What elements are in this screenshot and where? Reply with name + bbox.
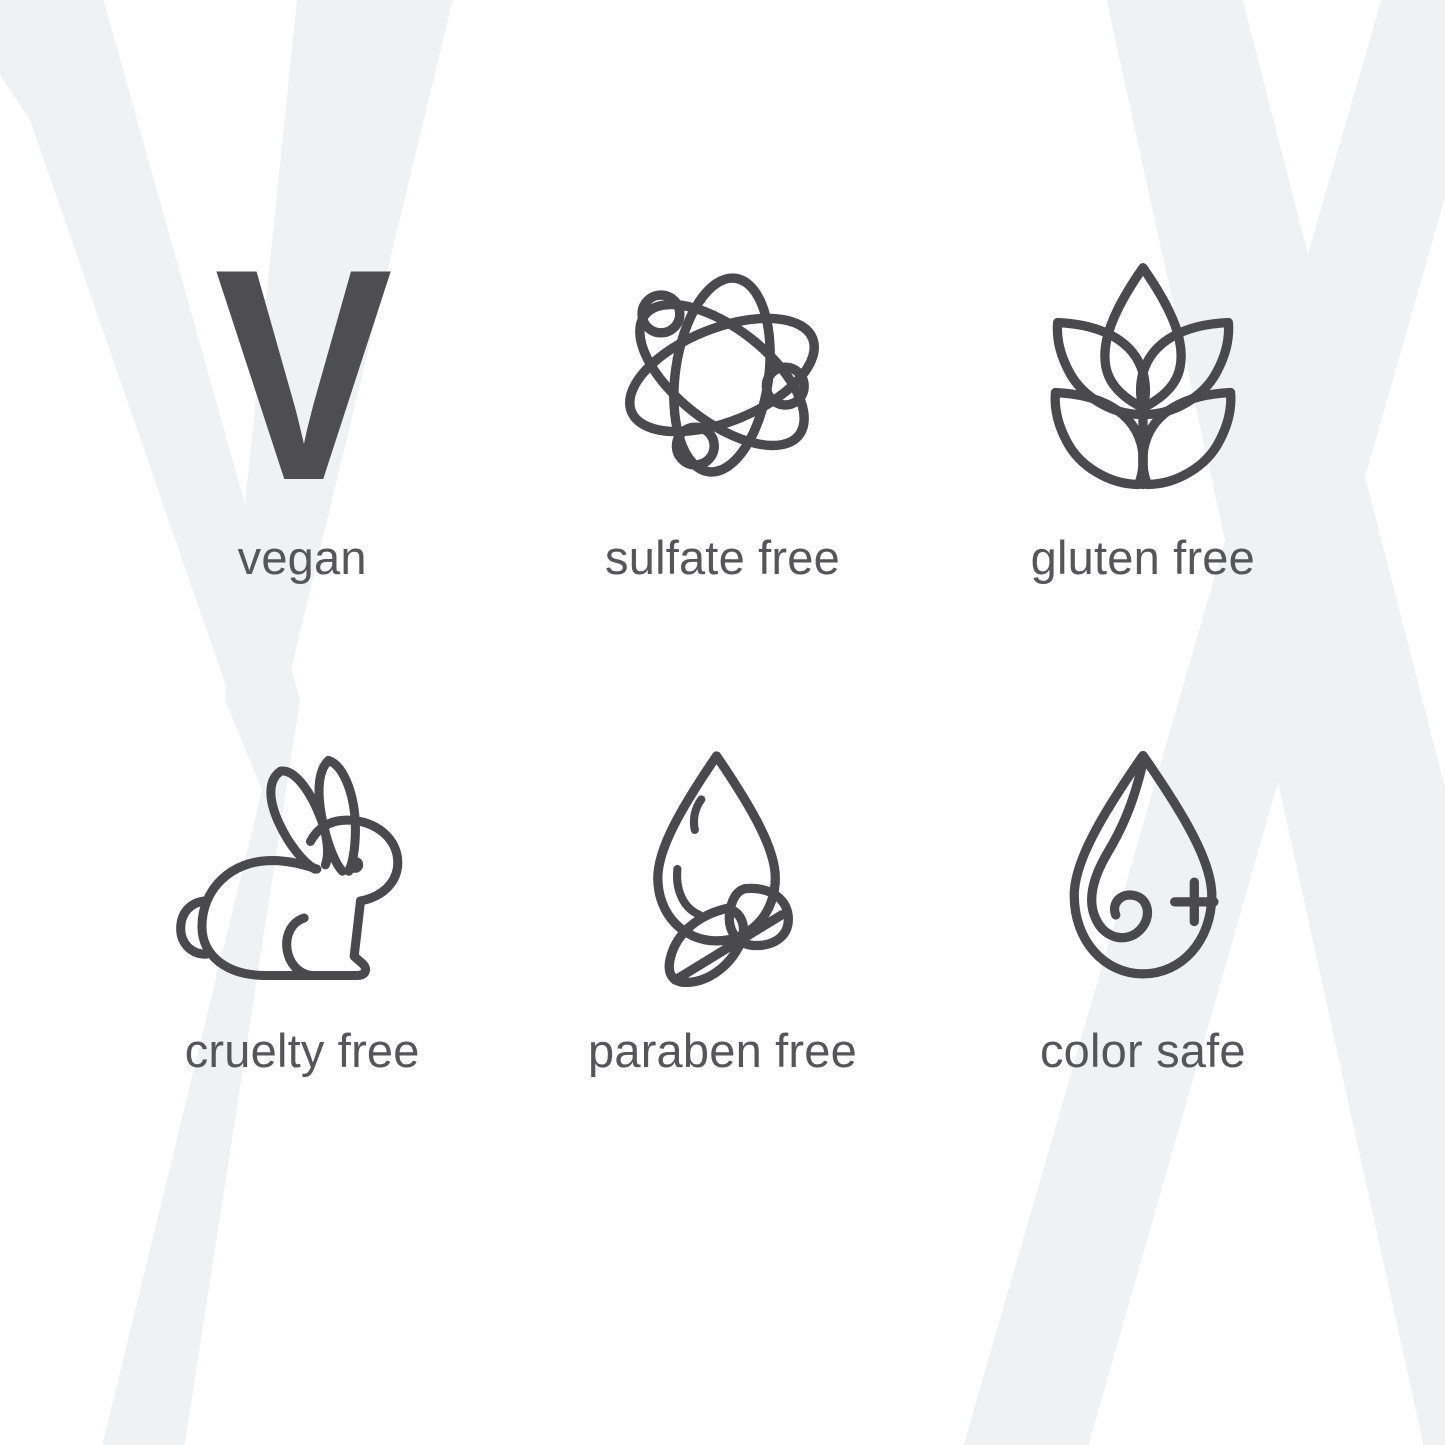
badge-sulfate-free[interactable]: sulfate free bbox=[512, 250, 932, 743]
droplet-highlight-upper bbox=[694, 799, 701, 829]
rabbit-body bbox=[202, 820, 398, 975]
badge-cruelty-free[interactable]: cruelty free bbox=[92, 743, 512, 1236]
vegan-letter-v-glyph: V bbox=[215, 224, 389, 526]
atom-icon bbox=[611, 250, 833, 500]
badge-label-sulfate-free: sulfate free bbox=[605, 534, 840, 581]
badge-label-color-safe: color safe bbox=[1040, 1027, 1246, 1074]
droplet-with-swirl-plus-icon bbox=[1039, 743, 1247, 993]
rabbit-icon bbox=[178, 743, 426, 993]
badge-board: V vegan sul bbox=[0, 0, 1445, 1445]
wheat-grain-icon bbox=[1044, 250, 1242, 500]
badge-label-cruelty-free: cruelty free bbox=[185, 1027, 420, 1074]
badge-paraben-free[interactable]: paraben free bbox=[512, 743, 932, 1236]
vegan-letter-v-icon: V bbox=[207, 250, 396, 500]
rabbit-front-leg bbox=[287, 918, 311, 975]
badge-gluten-free[interactable]: gluten free bbox=[933, 250, 1353, 743]
rabbit-eye bbox=[347, 856, 363, 872]
droplet-with-leaves-icon bbox=[623, 743, 821, 993]
badge-label-paraben-free: paraben free bbox=[588, 1027, 857, 1074]
droplet-outline bbox=[1074, 755, 1212, 973]
badge-grid: V vegan sul bbox=[0, 0, 1445, 1445]
badge-color-safe[interactable]: color safe bbox=[933, 743, 1353, 1236]
droplet-highlight-lower bbox=[678, 869, 700, 915]
rabbit-ear-right bbox=[319, 760, 342, 871]
badge-vegan[interactable]: V vegan bbox=[92, 250, 512, 743]
badge-label-gluten-free: gluten free bbox=[1031, 534, 1255, 581]
